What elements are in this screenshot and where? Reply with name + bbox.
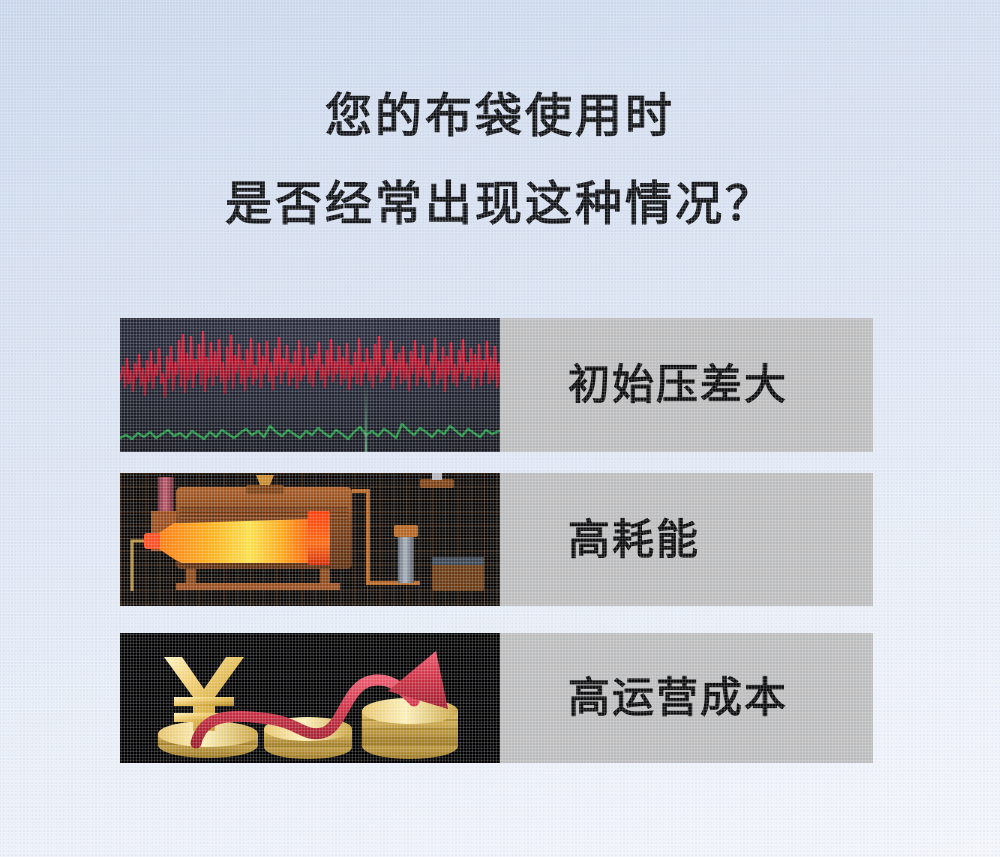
label-panel-cost: 高运营成本: [500, 633, 873, 763]
boiler-top-valve-base: [246, 485, 284, 494]
boiler-overhead-valve: [420, 479, 454, 488]
feature-label-energy: 高耗能: [568, 519, 700, 561]
boiler-tank-band: [432, 557, 484, 565]
label-panel-pressure: 初始压差大: [500, 318, 873, 452]
label-panel-energy: 高耗能: [500, 473, 873, 606]
boiler-base-plate: [176, 583, 340, 590]
boiler-fuel-line: [132, 541, 144, 591]
chart-vertical-marker: [365, 381, 367, 452]
boiler-pump-collar-top: [394, 525, 418, 537]
boiler-leg-left: [186, 569, 196, 585]
feature-row-energy: 高耗能: [120, 473, 873, 606]
boiler-top-valve: [256, 475, 274, 485]
page-title-line-1: 您的布袋使用时: [0, 92, 1000, 139]
feature-label-cost: 高运营成本: [568, 677, 788, 719]
feature-row-pressure: 初始压差大: [120, 318, 873, 452]
waveform-svg: [120, 318, 500, 452]
boiler-hot-end: [308, 511, 330, 565]
feature-row-cost: 高运营成本: [120, 633, 873, 763]
yuan-coins-rising-arrow: [120, 633, 500, 763]
boiler-leg-right: [320, 569, 330, 585]
boiler-pump-body: [398, 535, 414, 583]
series-stable-green: [120, 424, 499, 439]
cost-svg: [120, 633, 500, 763]
boiler-burner-nozzle: [144, 533, 160, 549]
boiler-overhead-stem: [432, 473, 442, 480]
feature-label-pressure: 初始压差大: [568, 364, 788, 406]
boiler-flame-chamber: [156, 519, 318, 563]
page-title-line-2: 是否经常出现这种情况？: [0, 180, 1000, 227]
boiler-svg: [120, 473, 500, 606]
series-volatile-red: [120, 331, 499, 398]
industrial-boiler-illustration: [120, 473, 500, 606]
pressure-differential-waveform-chart: [120, 318, 500, 452]
poster-page: 您的布袋使用时 是否经常出现这种情况？ 初始压差大: [0, 0, 1000, 857]
